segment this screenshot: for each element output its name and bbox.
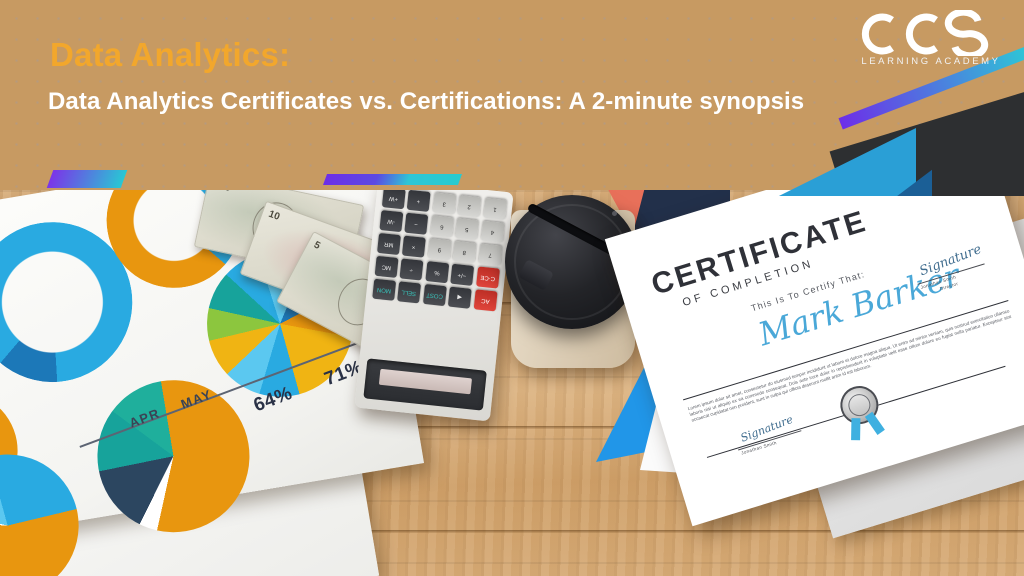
accent-bar-2 [323, 174, 462, 185]
logo-tagline: LEARNING ACADEMY [856, 56, 1006, 67]
calculator-display [363, 358, 487, 410]
page-subtitle: Data Analytics Certificates vs. Certific… [48, 88, 804, 116]
calculator: +W+321 -W−654 MR×987 MC÷%−/+C·CE MONSELL… [354, 190, 513, 421]
certificate-title: CERTIFICATE [648, 205, 872, 303]
ccs-logo-icon [856, 10, 1006, 56]
desk-photo: 70 30% 80% APR MAY 64% 71% [0, 190, 1024, 576]
calculator-keys: +W+321 -W−654 MR×987 MC÷%−/+C·CE MONSELL… [372, 190, 507, 311]
logo[interactable]: LEARNING ACADEMY [856, 10, 1006, 76]
promo-banner: 70 30% 80% APR MAY 64% 71% [0, 0, 1024, 576]
accent-bar-1 [47, 170, 128, 188]
header-band: Data Analytics: Data Analytics Certifica… [0, 0, 1024, 196]
page-title: Data Analytics: [50, 36, 290, 74]
